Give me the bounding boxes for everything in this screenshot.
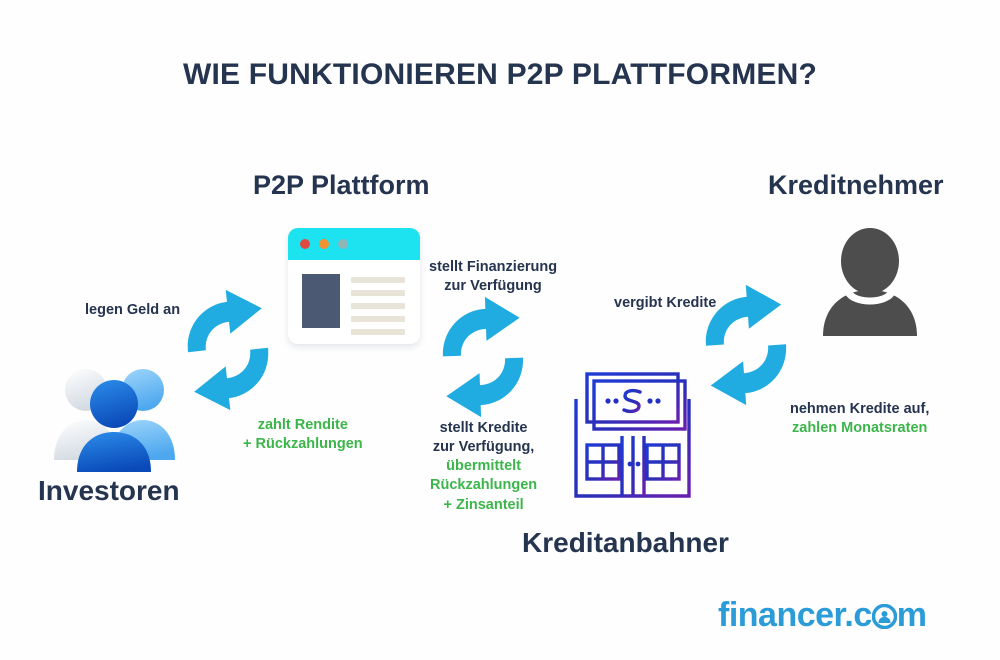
flow-line: Rückzahlungen [430,476,537,495]
financer-logo[interactable]: financer.c m [718,596,926,635]
flow-label-credits: stellt Kredite zur Verfügung, übermittel… [430,419,537,515]
flow-label-return: zahlt Rendite + Rückzahlungen [243,416,363,454]
flow-line: + Zinsanteil [430,496,537,515]
group-of-people-icon [50,360,185,475]
window-close-dot-icon [300,239,310,249]
cycle-arrows-icon-left [162,284,294,416]
browser-content-thumbnail [302,274,340,328]
browser-window-icon [288,228,420,344]
browser-titlebar [288,228,420,260]
flow-line: zahlt Rendite [243,416,363,435]
bank-building-icon [570,368,695,503]
flow-line: zur Verfügung [429,277,557,296]
person-icon [818,228,923,338]
flow-label-financing: stellt Finanzierung zur Verfügung [429,258,557,296]
browser-text-line [351,303,405,309]
logo-globe-o-icon [872,599,897,624]
cycle-arrows-icon-right [682,281,810,409]
flow-label-take: nehmen Kredite auf, zahlen Monatsraten [790,400,929,438]
flow-line: nehmen Kredite auf, [790,400,929,419]
window-minimize-dot-icon [319,239,329,249]
flow-line: übermittelt [430,457,537,476]
flow-line: stellt Kredite [430,419,537,438]
flow-line: stellt Finanzierung [429,258,557,277]
browser-text-line [351,329,405,335]
window-maximize-dot-icon [338,239,348,249]
infographic-canvas: WIE FUNKTIONIEREN P2P PLATTFORMEN? [0,0,1000,660]
node-heading-investors: Investoren [38,475,180,507]
browser-text-line [351,316,405,322]
flow-line: + Rückzahlungen [243,435,363,454]
node-heading-platform: P2P Plattform [253,170,430,201]
logo-text-part1: financer.c [718,596,872,634]
logo-text-part2: m [897,596,927,634]
cycle-arrows-icon-middle [421,295,545,419]
browser-text-line [351,277,405,283]
flow-line: zur Verfügung, [430,438,537,457]
browser-text-line [351,290,405,296]
node-heading-borrower: Kreditnehmer [768,170,944,201]
flow-line: zahlen Monatsraten [790,419,929,438]
page-title: WIE FUNKTIONIEREN P2P PLATTFORMEN? [0,58,1000,92]
node-heading-originator: Kreditanbahner [522,527,729,559]
